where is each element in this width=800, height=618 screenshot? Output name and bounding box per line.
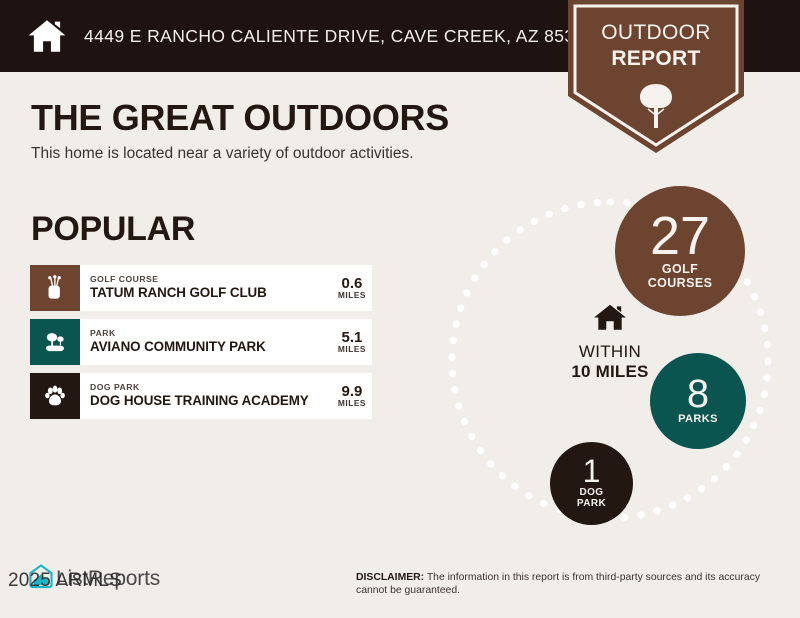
stat-label: GOLF COURSES: [648, 263, 713, 290]
badge-line-2: REPORT: [568, 46, 744, 72]
home-icon: [26, 15, 68, 57]
list-item-name: AVIANO COMMUNITY PARK: [90, 340, 266, 354]
stat-label: DOG PARK: [577, 488, 606, 510]
stat-label: PARKS: [678, 414, 718, 426]
list-item[interactable]: PARK AVIANO COMMUNITY PARK 5.1 MILES: [30, 319, 372, 365]
stat-bubble-parks[interactable]: 8 PARKS: [650, 353, 746, 449]
stat-label-line-2: COURSES: [648, 277, 713, 291]
popular-list: GOLF COURSE TATUM RANCH GOLF CLUB 0.6 MI…: [30, 265, 372, 427]
tree-icon: [636, 82, 676, 128]
stat-value: 27: [650, 212, 710, 262]
distance-value: 9.9: [338, 384, 366, 399]
list-item-category: DOG PARK: [90, 383, 309, 392]
page-title: THE GREAT OUTDOORS: [31, 97, 449, 139]
list-item-category: GOLF COURSE: [90, 275, 267, 284]
paw-print-icon: [30, 373, 80, 419]
list-item-body: GOLF COURSE TATUM RANCH GOLF CLUB 0.6 MI…: [80, 265, 372, 311]
home-icon: [593, 320, 627, 337]
list-item-distance: 0.6 MILES: [332, 276, 366, 299]
disclaimer: DISCLAIMER: The information in this repo…: [356, 571, 786, 598]
property-address: 4449 E RANCHO CALIENTE DRIVE, CAVE CREEK…: [84, 26, 595, 47]
mls-watermark: 2025 ARMLS: [8, 570, 122, 592]
disclaimer-label: DISCLAIMER:: [356, 572, 424, 583]
list-item-body: PARK AVIANO COMMUNITY PARK 5.1 MILES: [80, 319, 372, 365]
list-item[interactable]: GOLF COURSE TATUM RANCH GOLF CLUB 0.6 MI…: [30, 265, 372, 311]
popular-heading: POPULAR: [31, 210, 195, 249]
distance-unit: MILES: [338, 399, 366, 407]
list-item-category: PARK: [90, 329, 266, 338]
list-item-name: TATUM RANCH GOLF CLUB: [90, 286, 267, 300]
stat-label-line-1: PARKS: [678, 414, 718, 426]
park-tree-icon: [30, 319, 80, 365]
chart-center-line-1: WITHIN: [532, 342, 688, 362]
stat-value: 8: [687, 376, 709, 413]
stat-bubble-golf-courses[interactable]: 27 GOLF COURSES: [615, 186, 745, 316]
list-item-distance: 5.1 MILES: [332, 330, 366, 353]
distance-unit: MILES: [338, 291, 366, 299]
distance-value: 0.6: [338, 276, 366, 291]
distance-unit: MILES: [338, 345, 366, 353]
badge-line-1: OUTDOOR: [601, 21, 710, 44]
golf-bag-icon: [30, 265, 80, 311]
list-item-text: GOLF COURSE TATUM RANCH GOLF CLUB: [90, 275, 267, 300]
stat-label-line-1: GOLF: [648, 263, 713, 277]
stat-value: 1: [583, 457, 601, 486]
outdoor-amenities-chart: WITHIN 10 MILES 27 GOLF COURSES 8 PARKS …: [420, 170, 800, 550]
list-item-name: DOG HOUSE TRAINING ACADEMY: [90, 394, 309, 408]
outdoor-report-badge: OUTDOOR REPORT: [568, 0, 744, 153]
list-item[interactable]: DOG PARK DOG HOUSE TRAINING ACADEMY 9.9 …: [30, 373, 372, 419]
stat-bubble-dog-park[interactable]: 1 DOG PARK: [550, 442, 633, 525]
list-item-distance: 9.9 MILES: [332, 384, 366, 407]
list-item-text: PARK AVIANO COMMUNITY PARK: [90, 329, 266, 354]
stat-label-line-2: PARK: [577, 499, 606, 510]
badge-title: OUTDOOR REPORT: [568, 20, 744, 72]
page-subtitle: This home is located near a variety of o…: [31, 145, 414, 163]
distance-value: 5.1: [338, 330, 366, 345]
list-item-body: DOG PARK DOG HOUSE TRAINING ACADEMY 9.9 …: [80, 373, 372, 419]
list-item-text: DOG PARK DOG HOUSE TRAINING ACADEMY: [90, 383, 309, 408]
